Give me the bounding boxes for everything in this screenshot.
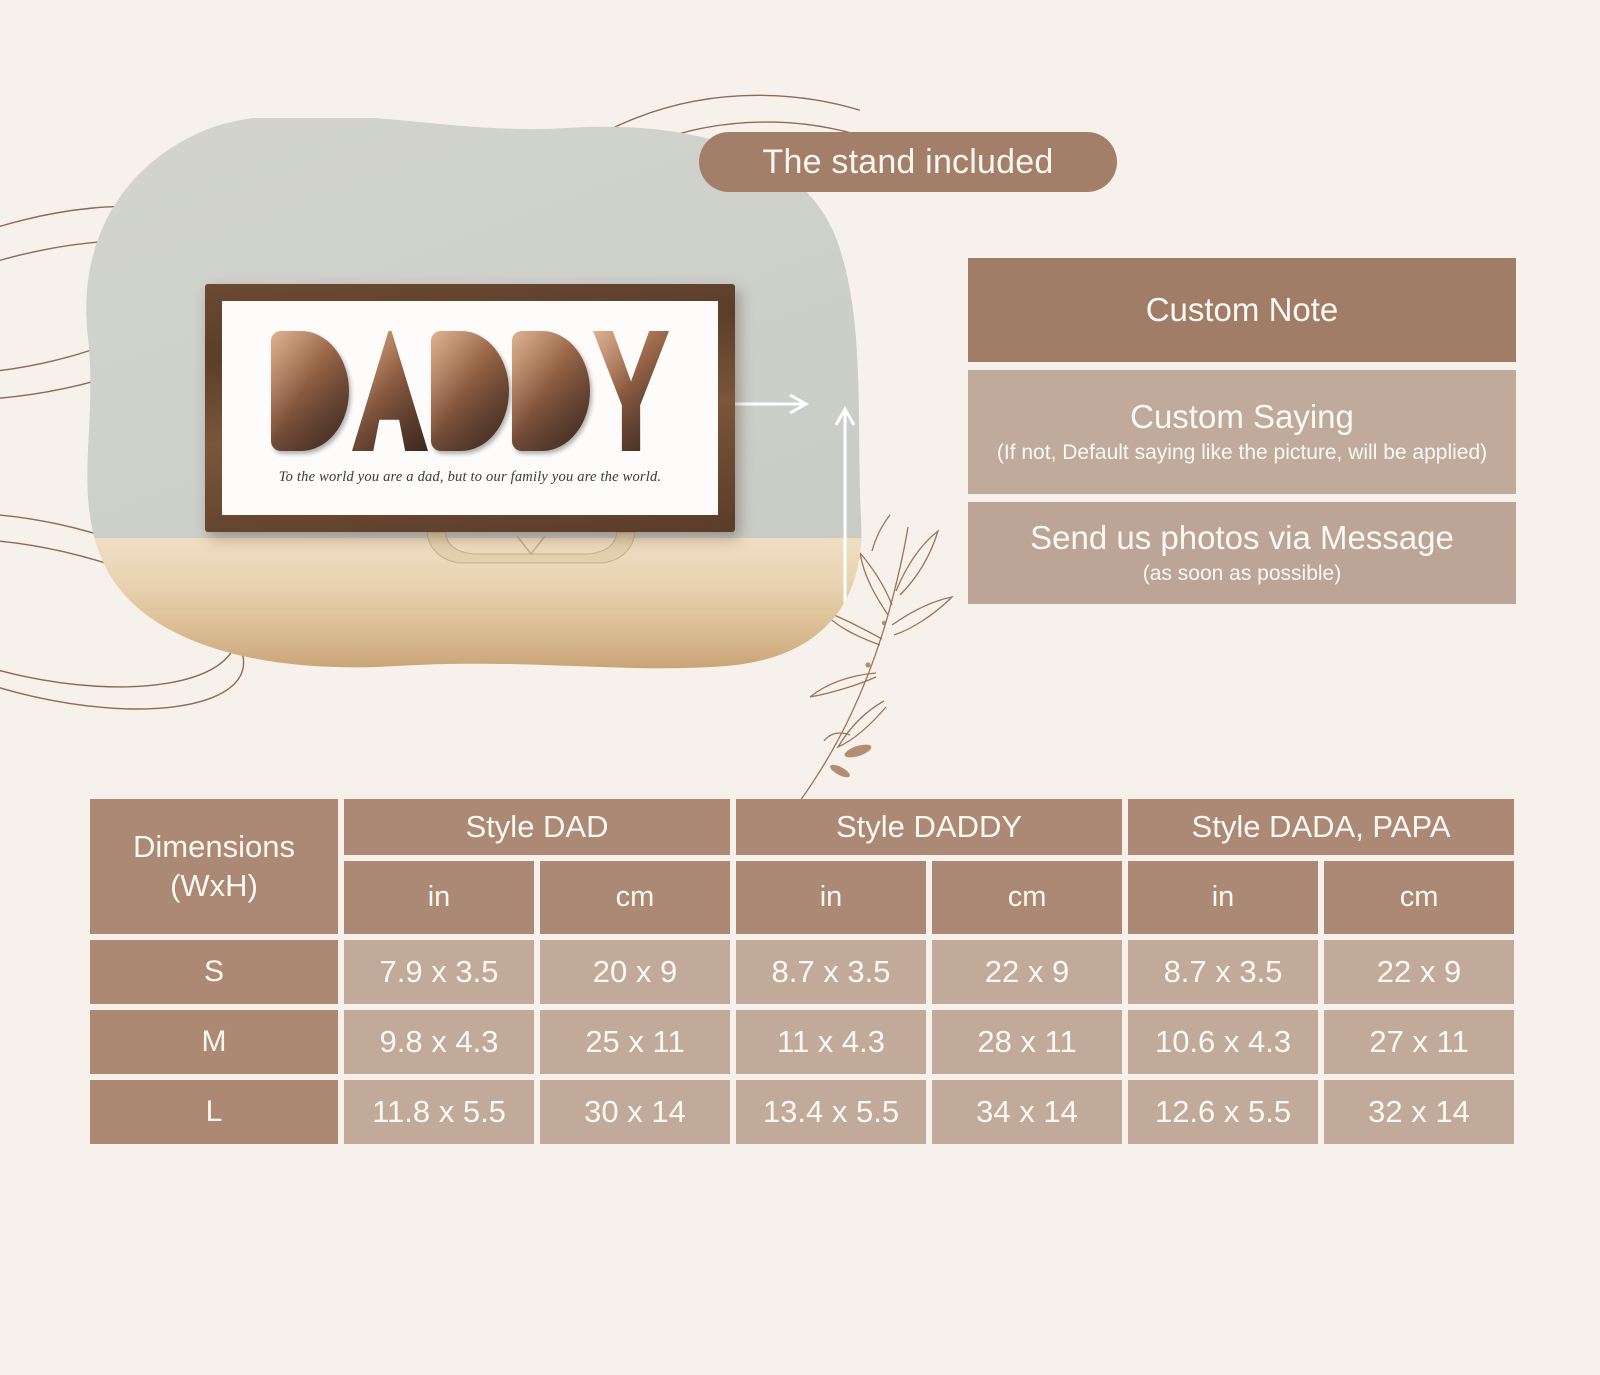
stand-included-badge: The stand included (699, 132, 1117, 192)
letter-d-2 (431, 331, 509, 451)
style-group-dada-papa: Style DADA, PAPA (1128, 799, 1514, 855)
letter-d-3 (512, 331, 590, 451)
wooden-photo-frame: To the world you are a dad, but to our f… (205, 284, 735, 532)
custom-saying-title: Custom Saying (1130, 398, 1354, 436)
custom-note-title: Custom Note (1146, 291, 1339, 329)
letter-y (593, 331, 669, 451)
cell-s-daddy-in: 8.7 x 3.5 (736, 940, 926, 1004)
cell-l-daddy-in: 13.4 x 5.5 (736, 1080, 926, 1144)
unit-header-dadapapa-in: in (1128, 861, 1318, 934)
custom-note-box: Custom Note (968, 258, 1516, 362)
table-row: M 9.8 x 4.3 25 x 11 11 x 4.3 28 x 11 10.… (90, 1010, 1514, 1074)
custom-saying-box: Custom Saying (If not, Default saying li… (968, 370, 1516, 494)
unit-header-dadapapa-cm: cm (1324, 861, 1514, 934)
frame-quote-text: To the world you are a dad, but to our f… (240, 469, 700, 486)
unit-header-dad-in: in (344, 861, 534, 934)
cell-m-dadapapa-in: 10.6 x 4.3 (1128, 1010, 1318, 1074)
size-label-s: S (90, 940, 338, 1004)
dimensions-subheader-label: (WxH) (96, 867, 332, 906)
frame-mat: To the world you are a dad, but to our f… (222, 301, 718, 515)
cell-s-dad-cm: 20 x 9 (540, 940, 730, 1004)
product-listing-page: To the world you are a dad, but to our f… (0, 0, 1600, 1375)
cell-l-dad-cm: 30 x 14 (540, 1080, 730, 1144)
cell-l-dad-in: 11.8 x 5.5 (344, 1080, 534, 1144)
size-chart-table: Dimensions (WxH) Style DAD Style DADDY S… (84, 793, 1520, 1150)
custom-saying-subtitle: (If not, Default saying like the picture… (997, 440, 1487, 466)
cell-s-dad-in: 7.9 x 3.5 (344, 940, 534, 1004)
unit-header-daddy-in: in (736, 861, 926, 934)
table-row: S 7.9 x 3.5 20 x 9 8.7 x 3.5 22 x 9 8.7 … (90, 940, 1514, 1004)
send-photos-title: Send us photos via Message (1030, 519, 1454, 557)
cell-m-dadapapa-cm: 27 x 11 (1324, 1010, 1514, 1074)
table-row: L 11.8 x 5.5 30 x 14 13.4 x 5.5 34 x 14 … (90, 1080, 1514, 1144)
cell-l-daddy-cm: 34 x 14 (932, 1080, 1122, 1144)
cell-s-daddy-cm: 22 x 9 (932, 940, 1122, 1004)
size-label-l: L (90, 1080, 338, 1144)
easel-stand (421, 530, 641, 568)
height-dimension-arrow (824, 403, 866, 648)
send-photos-box: Send us photos via Message (as soon as p… (968, 502, 1516, 604)
dimensions-header-label: Dimensions (96, 828, 332, 867)
cell-s-dadapapa-in: 8.7 x 3.5 (1128, 940, 1318, 1004)
table-row-style-header: Dimensions (WxH) Style DAD Style DADDY S… (90, 799, 1514, 855)
unit-header-daddy-cm: cm (932, 861, 1122, 934)
cell-s-dadapapa-cm: 22 x 9 (1324, 940, 1514, 1004)
send-photos-subtitle: (as soon as possible) (1143, 561, 1341, 587)
cell-m-dad-in: 9.8 x 4.3 (344, 1010, 534, 1074)
cell-m-daddy-cm: 28 x 11 (932, 1010, 1122, 1074)
cell-l-dadapapa-in: 12.6 x 5.5 (1128, 1080, 1318, 1144)
stand-included-label: The stand included (763, 143, 1054, 182)
photo-table-edge (66, 610, 866, 674)
product-photo: To the world you are a dad, but to our f… (66, 118, 866, 674)
letter-d-1 (271, 331, 349, 451)
cell-l-dadapapa-cm: 32 x 14 (1324, 1080, 1514, 1144)
style-group-dad: Style DAD (344, 799, 730, 855)
dimensions-header-cell: Dimensions (WxH) (90, 799, 338, 934)
cell-m-daddy-in: 11 x 4.3 (736, 1010, 926, 1074)
daddy-letters (236, 323, 704, 451)
cell-m-dad-cm: 25 x 11 (540, 1010, 730, 1074)
letter-a-1 (352, 331, 428, 451)
size-label-m: M (90, 1010, 338, 1074)
style-group-daddy: Style DADDY (736, 799, 1122, 855)
unit-header-dad-cm: cm (540, 861, 730, 934)
